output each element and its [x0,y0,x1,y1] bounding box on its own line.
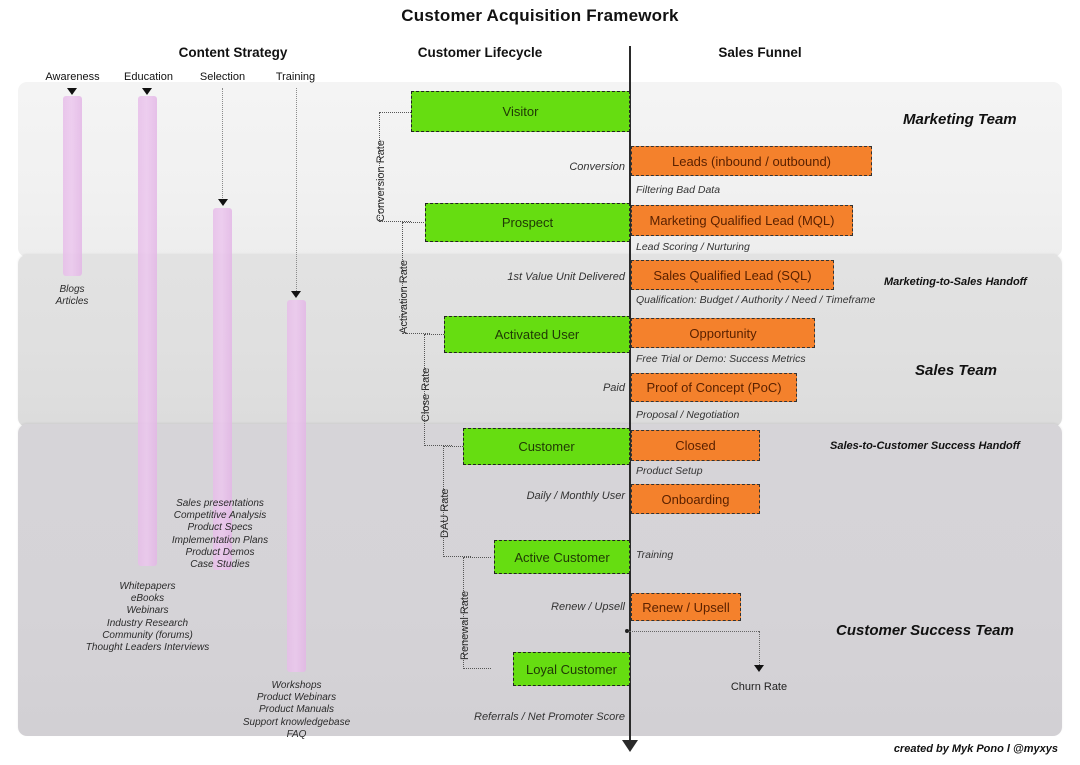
page-title: Customer Acquisition Framework [0,6,1080,26]
transition-label-renew-upsell: Renew / Upsell [460,601,625,613]
funnel-box-renew-upsell[interactable]: Renew / Upsell [631,593,741,621]
funnel-box-sql[interactable]: Sales Qualified Lead (SQL) [631,260,834,290]
content-list-selection: Sales presentationsCompetitive AnalysisP… [150,498,290,571]
rate-label-dau: DAU Rate [439,488,451,538]
funnel-box-closed[interactable]: Closed [631,430,760,461]
band-customer-success [18,424,1062,736]
rate-label-conversion: Conversion Rate [375,140,387,222]
funnel-note-free-trial: Free Trial or Demo: Success Metrics [636,353,806,365]
churn-line-vertical [759,631,760,667]
content-list-training: WorkshopsProduct WebinarsProduct Manuals… [219,680,374,741]
handoff-label-marketing-to-sales: Marketing-to-Sales Handoff [884,276,1027,288]
churn-line-horizontal [629,631,759,632]
funnel-note-qualification: Qualification: Budget / Authority / Need… [636,294,875,306]
team-label-marketing: Marketing Team [903,111,1017,128]
transition-label-referrals-nps: Referrals / Net Promoter Score [440,711,625,723]
transition-label-first-value-unit: 1st Value Unit Delivered [460,271,625,283]
arrow-down-icon-awareness [67,88,77,95]
lifecycle-box-visitor[interactable]: Visitor [411,91,630,132]
diagram-canvas: Customer Acquisition Framework Content S… [0,0,1080,765]
arrow-down-icon-churn [754,665,764,672]
funnel-box-mql[interactable]: Marketing Qualified Lead (MQL) [631,205,853,236]
funnel-box-poc[interactable]: Proof of Concept (PoC) [631,373,797,402]
phase-label-training: Training [243,71,348,83]
lifecycle-box-customer[interactable]: Customer [463,428,630,465]
transition-label-conversion: Conversion [460,161,625,173]
churn-rate-label: Churn Rate [699,681,819,693]
funnel-box-onboarding[interactable]: Onboarding [631,484,760,514]
column-title-customer-lifecycle: Customer Lifecycle [330,45,630,60]
dotted-line-selection [222,88,223,200]
lifecycle-box-active-customer[interactable]: Active Customer [494,540,630,574]
rate-label-close: Close Rate [420,368,432,422]
phase-bar-awareness [63,96,82,276]
lifecycle-box-prospect[interactable]: Prospect [425,203,630,242]
transition-label-paid: Paid [460,382,625,394]
content-list-awareness: BlogsArticles [36,284,108,308]
funnel-note-training: Training [636,549,673,561]
team-label-customer-success: Customer Success Team [836,622,1014,639]
arrow-down-icon-selection [218,199,228,206]
team-label-sales: Sales Team [915,362,997,379]
content-list-education: WhitepaperseBooksWebinarsIndustry Resear… [75,581,220,654]
arrow-down-icon-training [291,291,301,298]
dotted-line-training [296,88,297,293]
phase-bar-training [287,300,306,672]
axis-arrow-icon [622,740,638,752]
phase-bar-education [138,96,157,566]
column-title-sales-funnel: Sales Funnel [640,45,880,60]
rate-label-activation: Activation Rate [398,260,410,334]
funnel-note-product-setup: Product Setup [636,465,703,477]
funnel-note-filtering-bad-data: Filtering Bad Data [636,184,720,196]
lifecycle-box-loyal-customer[interactable]: Loyal Customer [513,652,630,686]
funnel-note-proposal-negotiation: Proposal / Negotiation [636,409,739,421]
funnel-box-opportunity[interactable]: Opportunity [631,318,815,348]
transition-label-daily-monthly-user: Daily / Monthly User [460,490,625,502]
funnel-box-leads[interactable]: Leads (inbound / outbound) [631,146,872,176]
lifecycle-box-activated-user[interactable]: Activated User [444,316,630,353]
arrow-down-icon-education [142,88,152,95]
credit-line: created by Myk Pono l @myxys [894,743,1058,755]
handoff-label-sales-to-customer-success: Sales-to-Customer Success Handoff [830,440,1020,452]
funnel-note-lead-scoring: Lead Scoring / Nurturing [636,241,750,253]
